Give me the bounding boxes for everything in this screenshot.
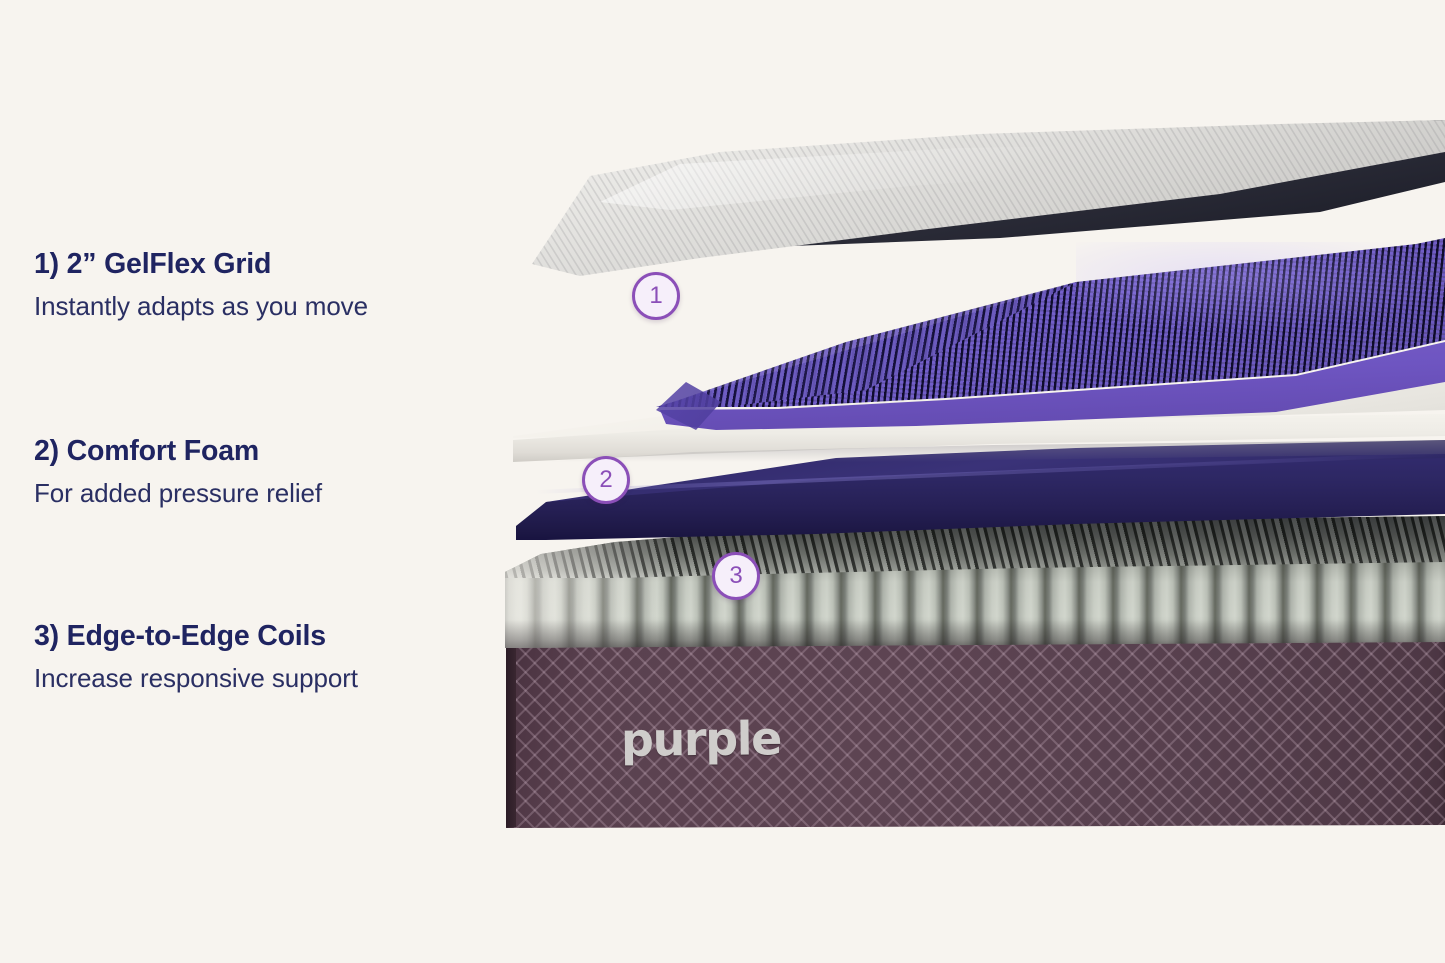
layer-label-2: 2) Comfort Foam For added pressure relie… xyxy=(34,435,494,509)
top-cover-layer xyxy=(520,118,1445,293)
base-left-side-panel xyxy=(506,628,516,828)
mattress-layers-infographic: purple xyxy=(0,0,1445,963)
layer-3-subtitle: Increase responsive support xyxy=(34,663,494,694)
layer-1-title: 1) 2” GelFlex Grid xyxy=(34,248,494,282)
top-cover-knit-face xyxy=(520,118,1445,293)
layer-label-1: 1) 2” GelFlex Grid Instantly adapts as y… xyxy=(34,248,494,322)
callout-badge-3[interactable]: 3 xyxy=(712,552,760,600)
callout-badge-2[interactable]: 2 xyxy=(582,456,630,504)
layer-3-title: 3) Edge-to-Edge Coils xyxy=(34,620,494,654)
callout-badge-1[interactable]: 1 xyxy=(632,272,680,320)
layer-label-list: 1) 2” GelFlex Grid Instantly adapts as y… xyxy=(34,0,494,963)
layer-2-title: 2) Comfort Foam xyxy=(34,435,494,469)
layer-1-subtitle: Instantly adapts as you move xyxy=(34,291,494,322)
layer-label-3: 3) Edge-to-Edge Coils Increase responsiv… xyxy=(34,620,494,694)
purple-logo: purple xyxy=(621,711,781,767)
mattress-base-layer: purple xyxy=(507,628,1445,828)
layer-2-subtitle: For added pressure relief xyxy=(34,478,494,509)
